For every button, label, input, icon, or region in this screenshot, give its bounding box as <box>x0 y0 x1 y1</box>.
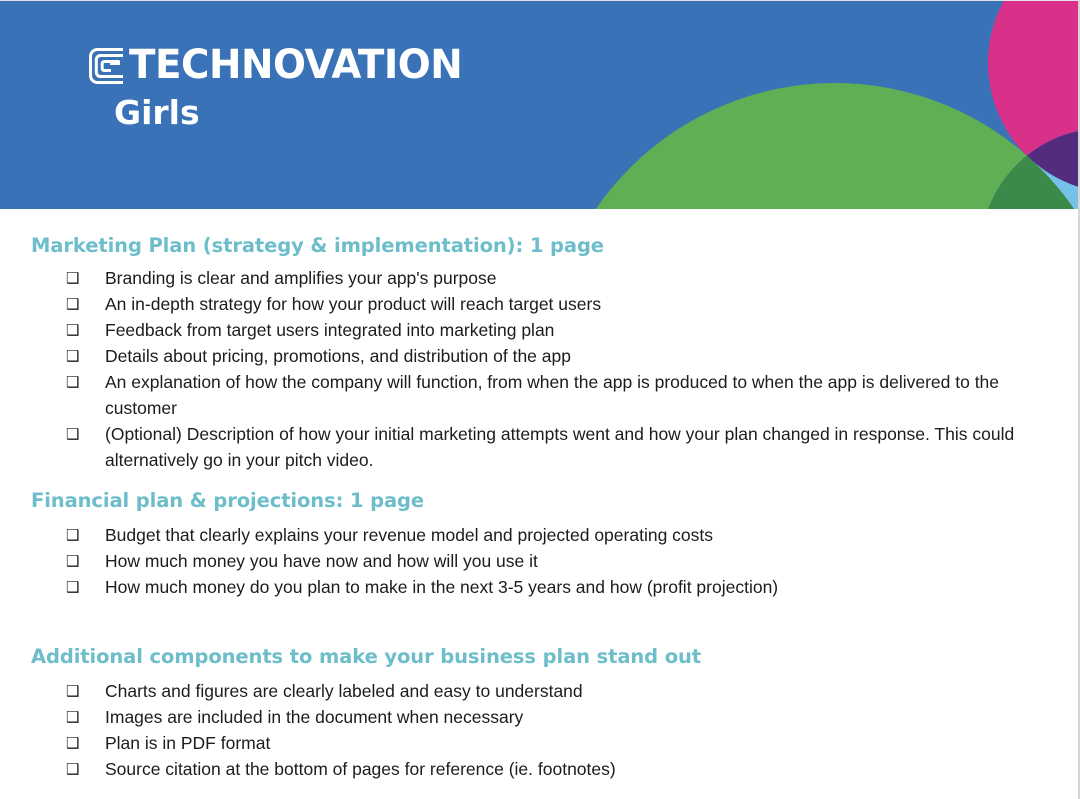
list-item-label: An explanation of how the company will f… <box>105 372 999 418</box>
list-item: ❑ Plan is in PDF format <box>66 730 1061 756</box>
list-item-label: (Optional) Description of how your initi… <box>105 424 1014 470</box>
section-heading-marketing-plan: Marketing Plan (strategy & implementatio… <box>31 235 1061 257</box>
list-item: ❑ Charts and figures are clearly labeled… <box>66 678 1061 704</box>
list-item: ❑ How much money do you plan to make in … <box>66 574 1061 600</box>
checkbox-icon[interactable]: ❑ <box>66 574 92 600</box>
checkbox-icon[interactable]: ❑ <box>66 678 92 704</box>
list-item: ❑ Branding is clear and amplifies your a… <box>66 265 1061 291</box>
section-additional-components: Additional components to make your busin… <box>31 646 1061 782</box>
list-item-label: An in-depth strategy for how your produc… <box>105 294 601 314</box>
list-item: ❑ Details about pricing, promotions, and… <box>66 343 1061 369</box>
list-item-label: Charts and figures are clearly labeled a… <box>105 681 583 701</box>
list-item: ❑ (Optional) Description of how your ini… <box>66 421 1061 473</box>
list-item-label: Branding is clear and amplifies your app… <box>105 268 496 288</box>
list-item-label: How much money you have now and how will… <box>105 551 538 571</box>
list-item-label: Source citation at the bottom of pages f… <box>105 759 616 779</box>
section-financial-plan: Financial plan & projections: 1 page ❑ B… <box>31 490 1061 600</box>
checklist-financial-plan: ❑ Budget that clearly explains your reve… <box>66 522 1061 600</box>
list-item-label: How much money do you plan to make in th… <box>105 577 778 597</box>
section-heading-additional-components: Additional components to make your busin… <box>31 646 1061 668</box>
list-item: ❑ Feedback from target users integrated … <box>66 317 1061 343</box>
checkbox-icon[interactable]: ❑ <box>66 291 92 317</box>
checkbox-icon[interactable]: ❑ <box>66 265 92 291</box>
checkbox-icon[interactable]: ❑ <box>66 704 92 730</box>
checklist-marketing-plan: ❑ Branding is clear and amplifies your a… <box>66 265 1061 473</box>
checkbox-icon[interactable]: ❑ <box>66 522 92 548</box>
checkbox-icon[interactable]: ❑ <box>66 421 92 447</box>
section-heading-financial-plan: Financial plan & projections: 1 page <box>31 490 1061 512</box>
list-item-label: Plan is in PDF format <box>105 733 270 753</box>
list-item-label: Details about pricing, promotions, and d… <box>105 346 571 366</box>
list-item: ❑ An in-depth strategy for how your prod… <box>66 291 1061 317</box>
checkbox-icon[interactable]: ❑ <box>66 369 92 395</box>
technovation-spiral-logo-icon <box>86 45 128 87</box>
list-item: ❑ An explanation of how the company will… <box>66 369 1061 421</box>
list-item-label: Budget that clearly explains your revenu… <box>105 525 713 545</box>
section-marketing-plan: Marketing Plan (strategy & implementatio… <box>31 235 1061 473</box>
checkbox-icon[interactable]: ❑ <box>66 343 92 369</box>
document-page: TECHNOVATION Girls Marketing Plan (strat… <box>0 0 1080 799</box>
checkbox-icon[interactable]: ❑ <box>66 548 92 574</box>
list-item: ❑ Images are included in the document wh… <box>66 704 1061 730</box>
list-item-label: Images are included in the document when… <box>105 707 523 727</box>
logo-wordmark: TECHNOVATION <box>129 44 462 86</box>
list-item-label: Feedback from target users integrated in… <box>105 320 554 340</box>
checkbox-icon[interactable]: ❑ <box>66 317 92 343</box>
brand-logo: TECHNOVATION Girls <box>86 44 473 129</box>
list-item: ❑ Budget that clearly explains your reve… <box>66 522 1061 548</box>
checklist-additional-components: ❑ Charts and figures are clearly labeled… <box>66 678 1061 782</box>
list-item: ❑ Source citation at the bottom of pages… <box>66 756 1061 782</box>
logo-subtitle: Girls <box>114 96 473 129</box>
checkbox-icon[interactable]: ❑ <box>66 730 92 756</box>
list-item: ❑ How much money you have now and how wi… <box>66 548 1061 574</box>
checkbox-icon[interactable]: ❑ <box>66 756 92 782</box>
header-banner: TECHNOVATION Girls <box>0 1 1080 209</box>
